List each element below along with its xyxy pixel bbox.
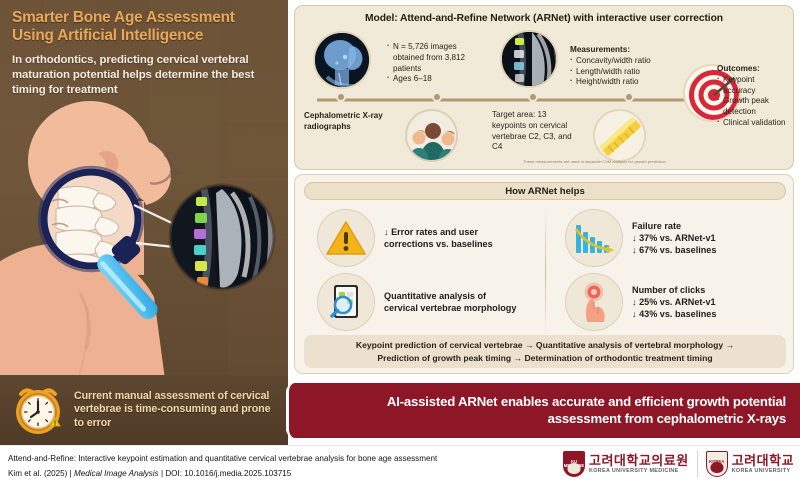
page-subtitle: In orthodontics, predicting cervical ver… [12,53,276,98]
model-panel-header: Model: Attend-and-Refine Network (ARNet)… [295,6,793,24]
help-line-1: cervical vertebrae morphology [384,302,516,314]
citation-doi: | DOI: 10.1016/j.media.2025.103715 [159,469,292,478]
dataset-item-0: N = 5,726 images obtained from 3,812 pat… [387,42,479,74]
help-line-0: Quantitative analysis of [384,290,516,302]
logo-english-1: KOREA UNIVERSITY MEDICINE [589,468,689,474]
manual-assessment-banner: ! Current manual assessment of cervical … [0,375,288,445]
bar-chart-declining-icon [565,209,623,267]
hero-illustration [0,103,288,383]
outcome-item-0: Keypoint accuracy [717,75,789,97]
measurements-block: Measurements: Concavity/width ratio Leng… [570,45,690,88]
cervical-spine-mri-icon [500,30,558,88]
patients-group-icon [405,109,458,162]
pipeline-summary-line1: Keypoint prediction of cervical vertebra… [356,339,734,351]
dataset-list: N = 5,726 images obtained from 3,812 pat… [387,42,479,85]
logo-text-block: 고려대학교 KOREA UNIVERSITY [732,454,794,474]
help-line-1: ↓ 67% vs. baselines [632,244,716,256]
logo-hangul-1: 고려대학교의료원 [589,454,689,468]
measurement-footnote: These measurements are used in separate … [523,159,666,164]
how-arnet-helps-panel: How ARNet helps ↓ Error rates and user c… [294,174,794,374]
child-profile-svg [0,97,288,387]
page-title: Smarter Bone Age Assessment Using Artifi… [12,9,276,45]
help-cell-error-rates-text: ↓ Error rates and user corrections vs. b… [384,226,493,250]
measuring-ruler-icon [593,109,646,162]
ku-medicine-crest-icon: KU MEDICINE [563,451,585,477]
how-arnet-helps-header: How ARNet helps [304,182,786,200]
logo-hangul-2: 고려대학교 [732,454,794,468]
flow-node-4 [624,92,634,102]
tiger-emblem-icon [568,463,581,474]
infographic-root: Smarter Bone Age Assessment Using Artifi… [0,0,800,491]
logo-korea-university-medicine: KU MEDICINE 고려대학교의료원 KOREA UNIVERSITY ME… [563,451,689,477]
dataset-item-1: Ages 6–18 [387,74,479,85]
help-line-1: ↓ 43% vs. baselines [632,308,716,320]
help-cell-clicks-text: Number of clicks ↓ 25% vs. ARNet-v1 ↓ 43… [632,284,716,320]
flow-node-3 [528,92,538,102]
ku-crest-icon: KOREA UNIV [706,451,728,477]
manual-assessment-text: Current manual assessment of cervical ve… [74,390,278,429]
conclusion-line1: AI-assisted ARNet enables accurate and e… [387,394,786,411]
pipeline-summary-line2: Prediction of growth peak timing → Deter… [377,352,712,364]
citation-title: Attend-and-Refine: Interactive keypoint … [8,454,437,463]
click-cursor-icon [565,273,623,331]
model-panel: Model: Attend-and-Refine Network (ARNet)… [294,5,794,170]
help-line-0: ↓ 37% vs. ARNet-v1 [632,232,716,244]
flow-node-1 [336,92,346,102]
warning-triangle-icon [317,209,375,267]
outcomes-block: Outcomes: Keypoint accuracy Growth peak … [717,64,789,129]
help-cell-quantitative-text: Quantitative analysis of cervical verteb… [384,290,516,314]
flow-node-2 [432,92,442,102]
help-line-1: corrections vs. baselines [384,238,493,250]
help-cell-error-rates: ↓ Error rates and user corrections vs. b… [317,209,542,267]
measurement-item-1: Length/width ratio [570,67,690,78]
svg-text:!: ! [54,421,56,428]
help-title-clicks: Number of clicks [632,284,716,296]
measurement-item-2: Height/width ratio [570,77,690,88]
conclusion-banner: AI-assisted ARNet enables accurate and e… [286,383,800,438]
footer: Attend-and-Refine: Interactive keypoint … [0,445,800,491]
document-magnifier-icon [317,273,375,331]
logo-text-block: 고려대학교의료원 KOREA UNIVERSITY MEDICINE [589,454,689,474]
help-cell-failure-rate: Failure rate ↓ 37% vs. ARNet-v1 ↓ 67% vs… [565,209,785,267]
citation-authors: Kim et al. (2025) | [8,469,74,478]
hero-title-block: Smarter Bone Age Assessment Using Artifi… [0,0,288,98]
tiger-emblem-icon [710,462,723,473]
measurements-title: Measurements: [570,45,630,54]
citation-details: Kim et al. (2025) | Medical Image Analys… [8,469,291,478]
alarm-clock-icon: ! [10,382,66,438]
help-line-0: ↓ Error rates and user [384,226,493,238]
help-line-0: ↓ 25% vs. ARNet-v1 [632,296,716,308]
pipeline-summary: Keypoint prediction of cervical vertebra… [304,335,786,368]
page-title-line2: Using Artificial Intelligence [12,27,276,45]
xray-head-scan-icon [313,31,371,89]
logo-korea-university: KOREA UNIV 고려대학교 KOREA UNIVERSITY [706,451,794,477]
outcome-item-2: Clinical validation [717,118,789,129]
panel-divider [545,209,546,335]
outcome-item-1: Growth peak detection [717,96,789,118]
logo-english-2: KOREA UNIVERSITY [732,468,794,474]
help-title-failure: Failure rate [632,220,716,232]
conclusion-banner-text: AI-assisted ARNet enables accurate and e… [387,394,786,428]
help-cell-quantitative: Quantitative analysis of cervical verteb… [317,273,545,331]
footer-logos: KU MEDICINE 고려대학교의료원 KOREA UNIVERSITY ME… [563,451,794,477]
target-area-text: Target area: 13 keypoints on cervical ve… [492,110,576,153]
measurement-item-0: Concavity/width ratio [570,56,690,67]
logo-separator [697,451,698,477]
help-cell-failure-rate-text: Failure rate ↓ 37% vs. ARNet-v1 ↓ 67% vs… [632,220,716,256]
citation-journal: Medical Image Analysis [74,469,159,478]
page-title-line1: Smarter Bone Age Assessment [12,9,276,27]
outcomes-title: Outcomes: [717,64,760,73]
step1-caption: Cephalometric X-ray radiographs [304,111,394,133]
help-cell-clicks: Number of clicks ↓ 25% vs. ARNet-v1 ↓ 43… [565,273,785,331]
conclusion-line2: assessment from cephalometric X-rays [387,411,786,428]
